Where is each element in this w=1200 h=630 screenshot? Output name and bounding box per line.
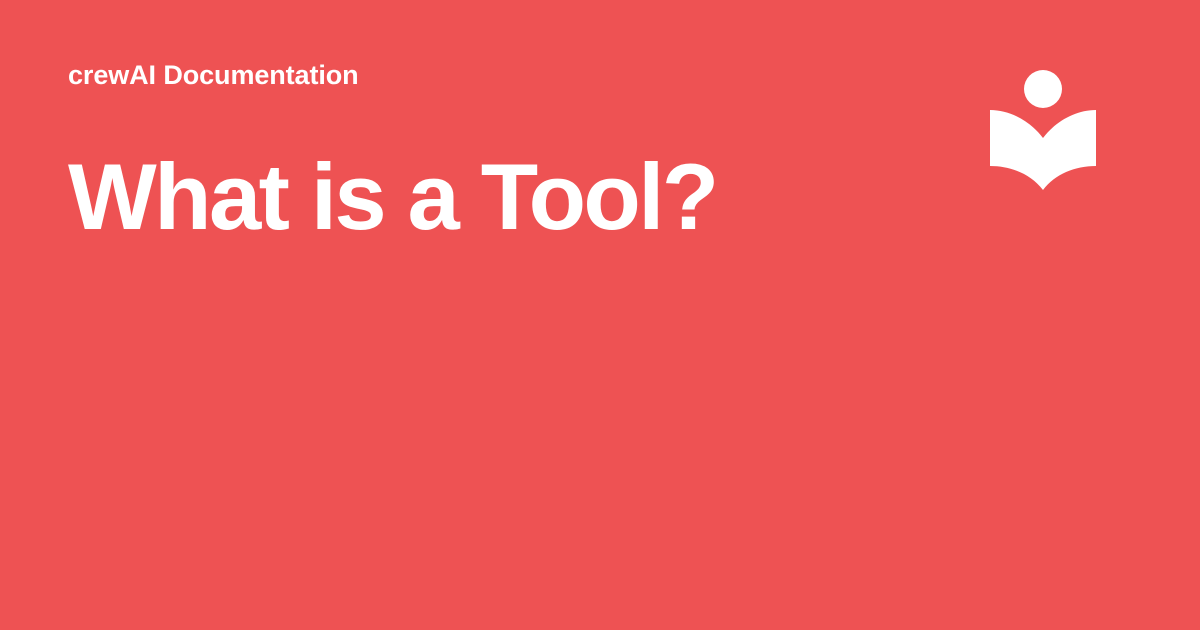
page-title: What is a Tool? xyxy=(68,147,928,247)
card-text-block: crewAI Documentation What is a Tool? xyxy=(68,62,928,247)
book-right-page-shape xyxy=(1043,110,1096,190)
site-name-eyebrow: crewAI Documentation xyxy=(68,62,928,89)
book-left-page-shape xyxy=(990,110,1043,190)
open-book-reader-icon xyxy=(986,66,1102,194)
reader-head-shape xyxy=(1024,70,1062,108)
og-card: crewAI Documentation What is a Tool? xyxy=(0,0,1200,630)
